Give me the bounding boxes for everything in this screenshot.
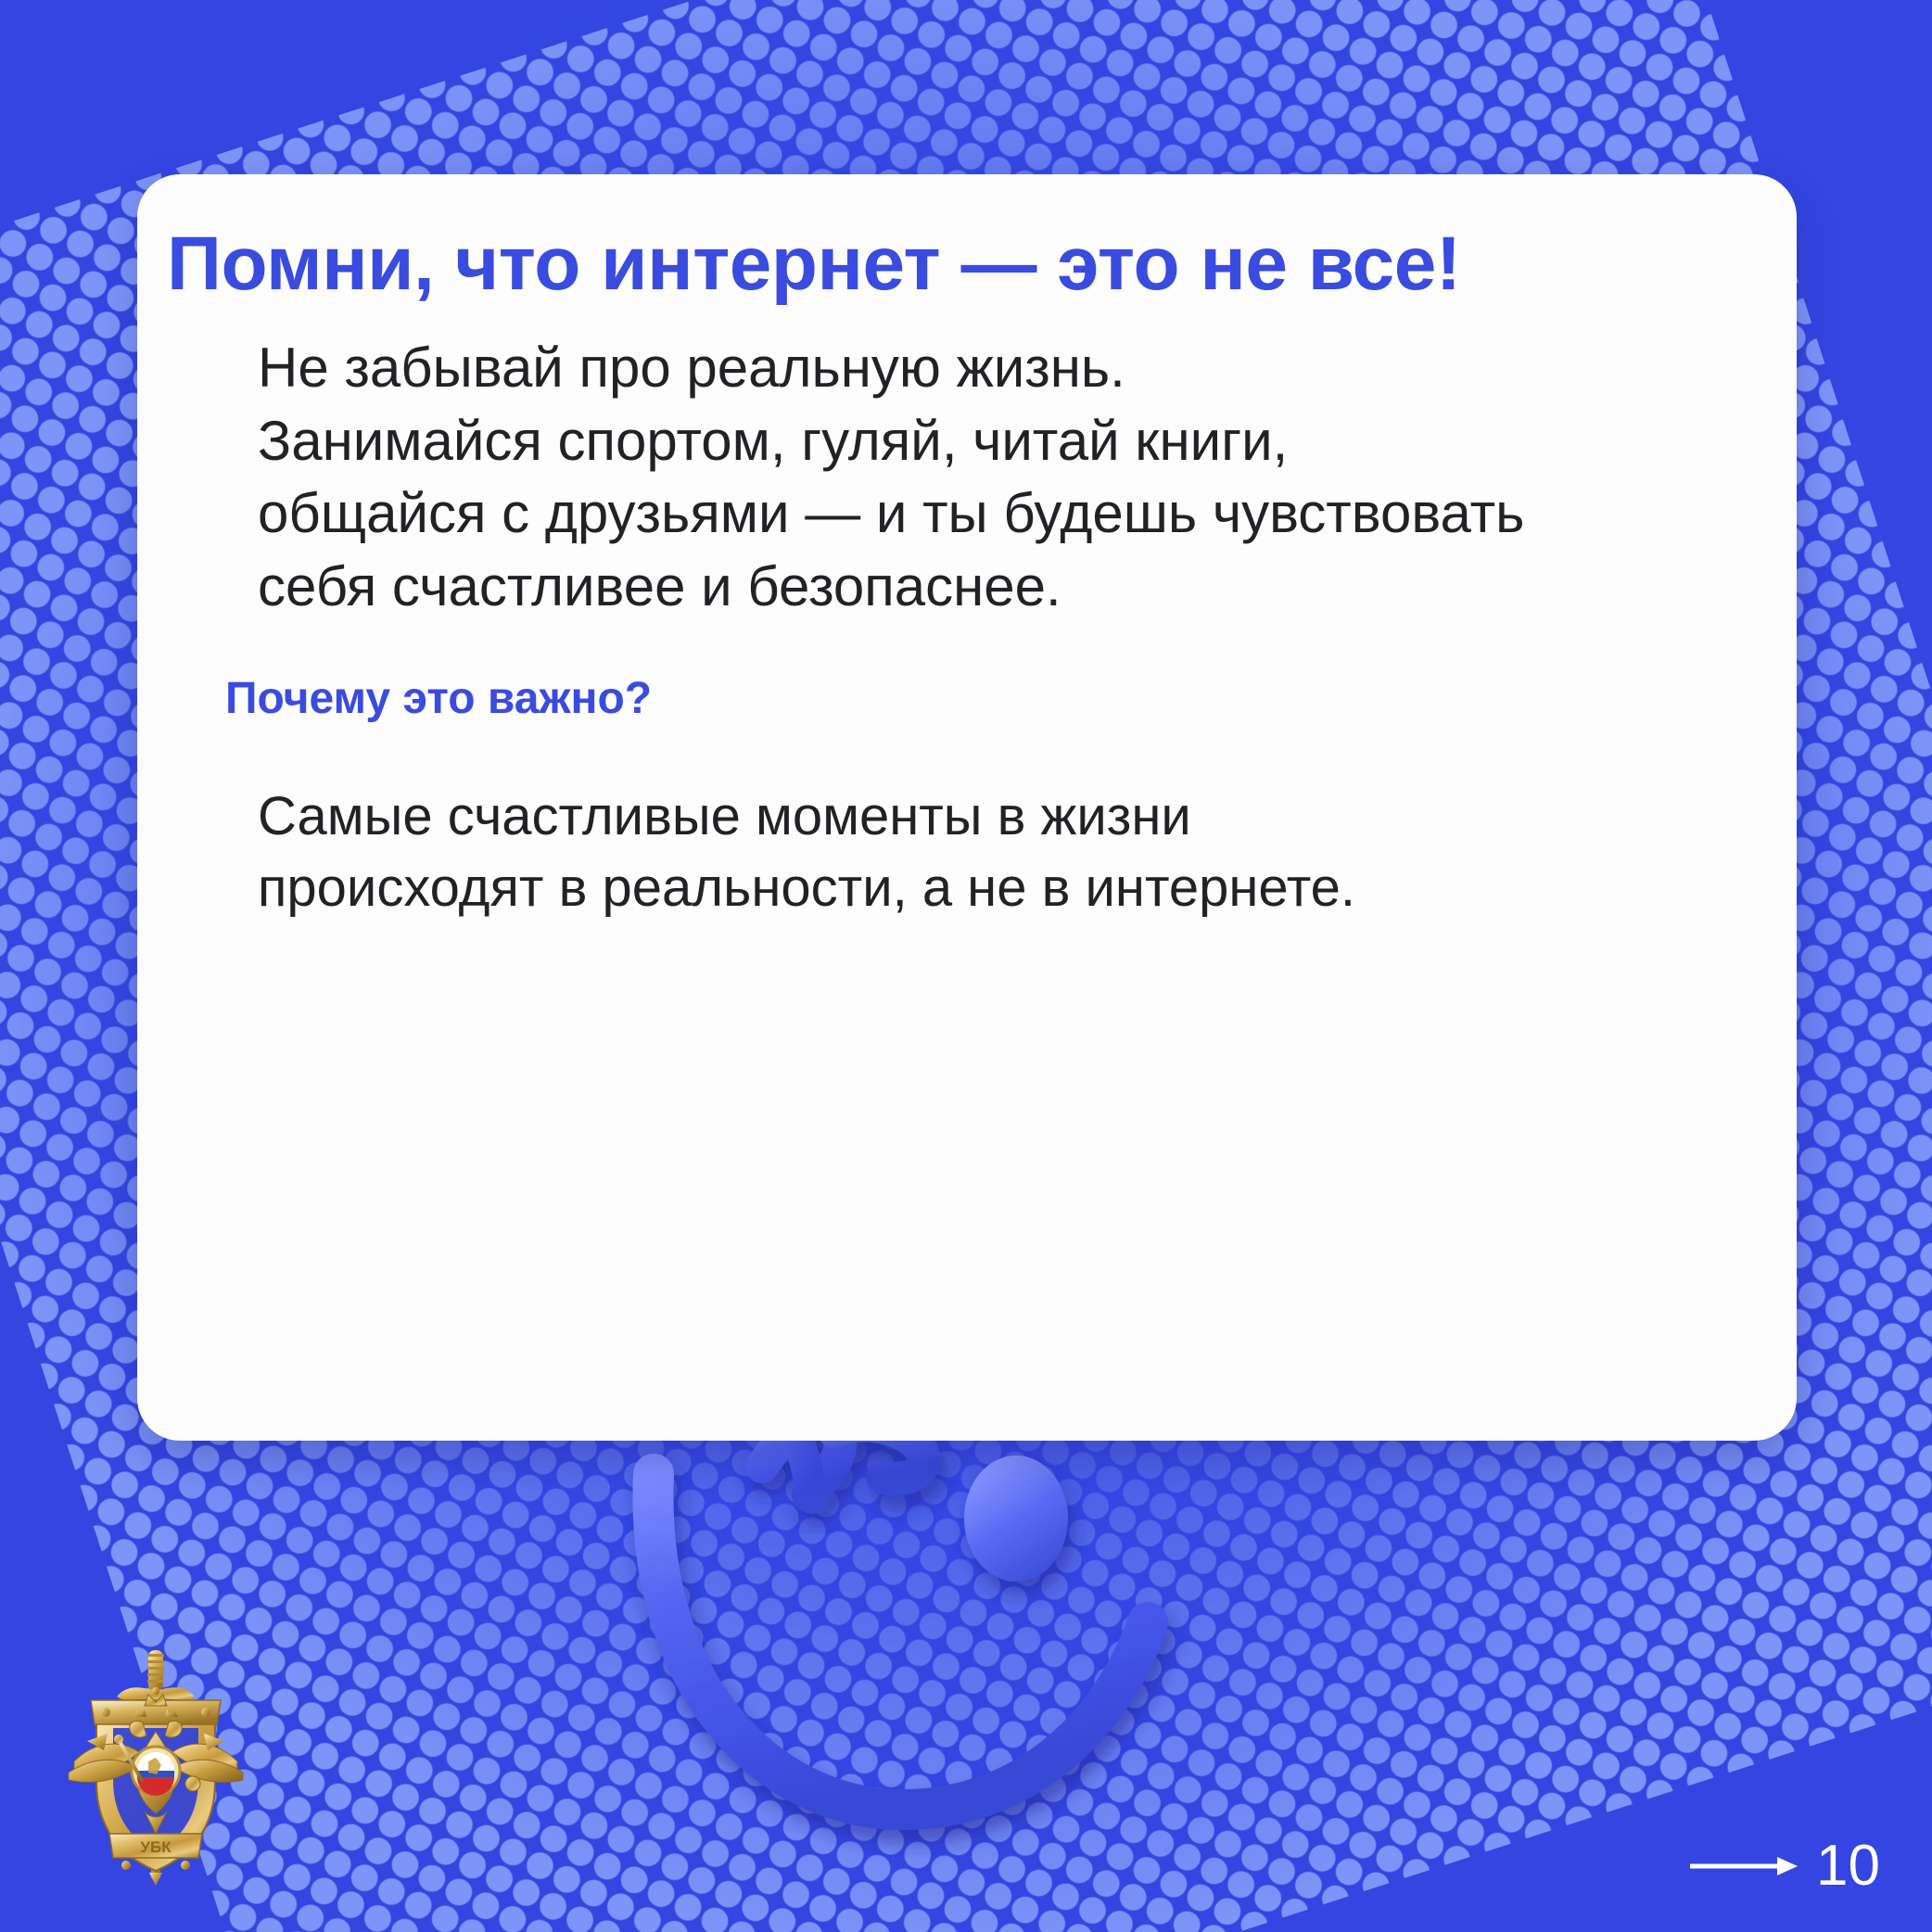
banner-ubk: УБК [109,1834,202,1858]
ubk-badge-emblem: УБК [63,1643,248,1886]
arrow-right-icon [1688,1854,1799,1878]
orb [185,1776,200,1791]
why-important-answer: Самые счастливые моменты в жизни происхо… [258,782,1704,923]
slide-root: Помни, что интернет — это не все! Не заб… [0,0,1932,1932]
sword-tip [149,1873,162,1886]
page-title: Помни, что интернет — это не все! [167,226,1771,302]
banner-text: УБК [140,1838,172,1856]
why-important-heading: Почему это важно? [225,675,652,724]
content-card: Помни, что интернет — это не все! Не заб… [137,174,1797,1441]
page-footer: 10 [1688,1837,1880,1895]
page-number: 10 [1816,1837,1880,1895]
body-paragraph: Не забывай про реальную жизнь. Занимайся… [258,332,1741,623]
